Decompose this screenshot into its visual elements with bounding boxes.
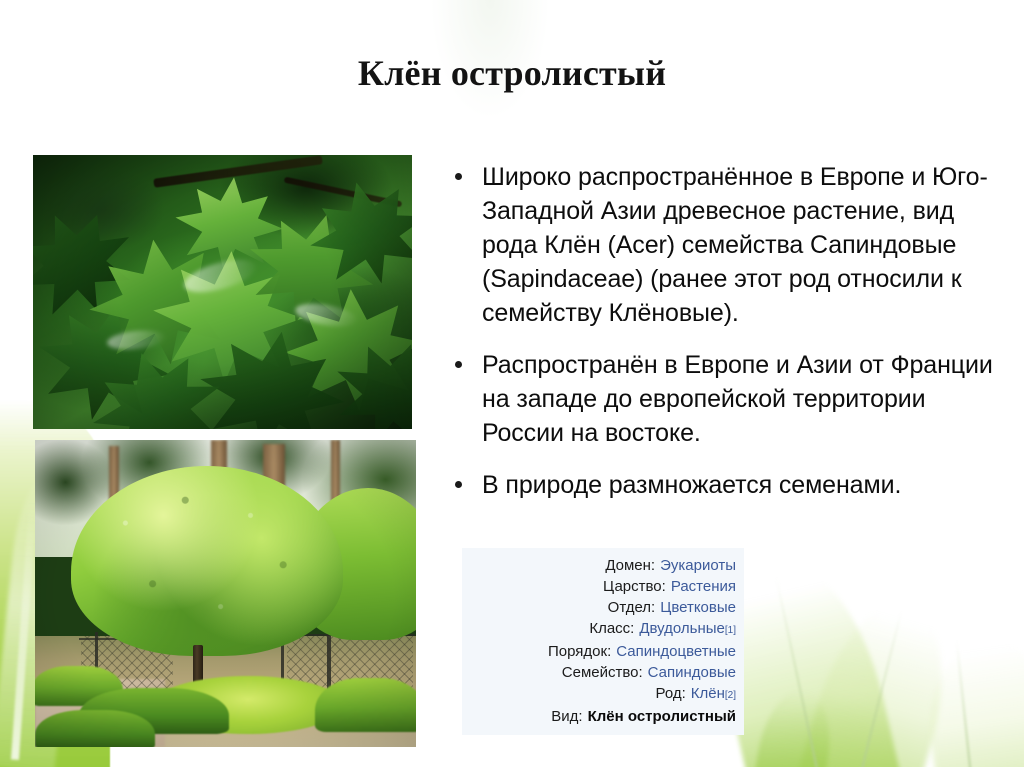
taxon-rank-label: Вид: (551, 706, 587, 727)
bullet-text: Широко распространённое в Европе и Юго-З… (482, 160, 1008, 330)
bullet-dot-icon (455, 361, 462, 368)
slide-canvas: Клён остролистый (0, 0, 1024, 767)
maple-leaves-photo (33, 155, 412, 429)
taxon-reference[interactable]: [2] (725, 685, 736, 706)
table-row: Вид: Клён остролистный (466, 706, 736, 727)
slide-title: Клён остролистый (0, 52, 1024, 94)
bullet-dot-icon (455, 481, 462, 488)
table-row: Порядок: Сапиндоцветные (466, 641, 736, 662)
taxon-value-link[interactable]: Цветковые (660, 597, 736, 618)
grass-blade-right-2-icon (793, 588, 966, 767)
grass-blade-left-vein-icon (11, 500, 37, 760)
taxon-value-link[interactable]: Эукариоты (660, 555, 736, 576)
taxon-value-species: Клён остролистный (588, 706, 736, 727)
grass-blade-right-3-icon (918, 632, 1024, 767)
taxon-value-link[interactable]: Клён (691, 683, 725, 704)
taxonomy-table: Домен: Эукариоты Царство: Растения Отдел… (462, 548, 744, 735)
taxon-value-link[interactable]: Сапиндовые (648, 662, 736, 683)
photo-vignette (35, 440, 416, 747)
table-row: Семейство: Сапиндовые (466, 662, 736, 683)
table-row: Царство: Растения (466, 576, 736, 597)
grass-vein-right-3-icon (955, 640, 972, 767)
globe-maple-tree-photo (35, 440, 416, 747)
grass-vein-right-1-icon (775, 577, 818, 767)
taxon-rank-label: Отдел: (608, 597, 661, 618)
bullet-dot-icon (455, 173, 462, 180)
table-row: Домен: Эукариоты (466, 555, 736, 576)
photo-vignette (33, 155, 412, 429)
bullet-list: Широко распространённое в Европе и Юго-З… (448, 160, 1008, 520)
taxon-rank-label: Род: (655, 683, 690, 704)
list-item: Широко распространённое в Европе и Юго-З… (448, 160, 1008, 330)
table-row: Отдел: Цветковые (466, 597, 736, 618)
taxon-rank-label: Порядок: (548, 641, 616, 662)
table-row: Класс: Двудольные [1] (466, 618, 736, 641)
taxon-rank-label: Царство: (603, 576, 671, 597)
taxon-rank-label: Домен: (605, 555, 660, 576)
grass-vein-right-2-icon (860, 610, 903, 767)
bullet-text: В природе размножается семенами. (482, 468, 1008, 502)
list-item: В природе размножается семенами. (448, 468, 1008, 502)
grass-blade-right-4-icon (751, 685, 839, 767)
taxon-reference[interactable]: [1] (725, 620, 736, 641)
bullet-text: Распространён в Европе и Азии от Франции… (482, 348, 1008, 450)
table-row: Род: Клён [2] (466, 683, 736, 706)
list-item: Распространён в Европе и Азии от Франции… (448, 348, 1008, 450)
taxon-rank-label: Семейство: (562, 662, 648, 683)
taxon-value-link[interactable]: Двудольные (639, 618, 725, 639)
taxon-rank-label: Класс: (589, 618, 639, 639)
taxon-value-link[interactable]: Сапиндоцветные (616, 641, 736, 662)
taxon-value-link[interactable]: Растения (671, 576, 736, 597)
